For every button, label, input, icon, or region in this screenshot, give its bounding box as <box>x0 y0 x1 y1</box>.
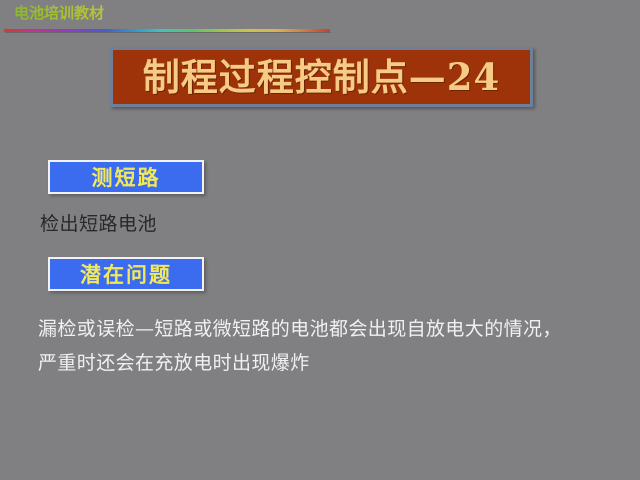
body-line: 严重时还会在充放电时出现爆炸 <box>38 346 618 380</box>
slide-canvas: 电池培训教材 制程过程控制点—24 测短路 检出短路电池 潜在问题 漏检或误检—… <box>0 0 640 480</box>
section-chip-label: 潜在问题 <box>80 263 172 286</box>
section-body-measure-short: 检出短路电池 <box>40 211 157 237</box>
body-line: 漏检或误检—短路或微短路的电池都会出现自放电大的情况， <box>38 312 618 346</box>
rainbow-rule-shadow <box>5 32 331 33</box>
course-header-label: 电池培训教材 <box>14 4 104 22</box>
section-body-potential-issue: 漏检或误检—短路或微短路的电池都会出现自放电大的情况， 严重时还会在充放电时出现… <box>38 312 618 380</box>
rainbow-rule <box>4 29 330 32</box>
section-chip-label: 测短路 <box>92 166 161 189</box>
slide-title-plate: 制程过程控制点—24 <box>110 47 533 107</box>
section-chip-potential-issue: 潜在问题 <box>48 257 204 291</box>
section-chip-measure-short: 测短路 <box>48 160 204 194</box>
slide-title: 制程过程控制点—24 <box>143 57 501 97</box>
